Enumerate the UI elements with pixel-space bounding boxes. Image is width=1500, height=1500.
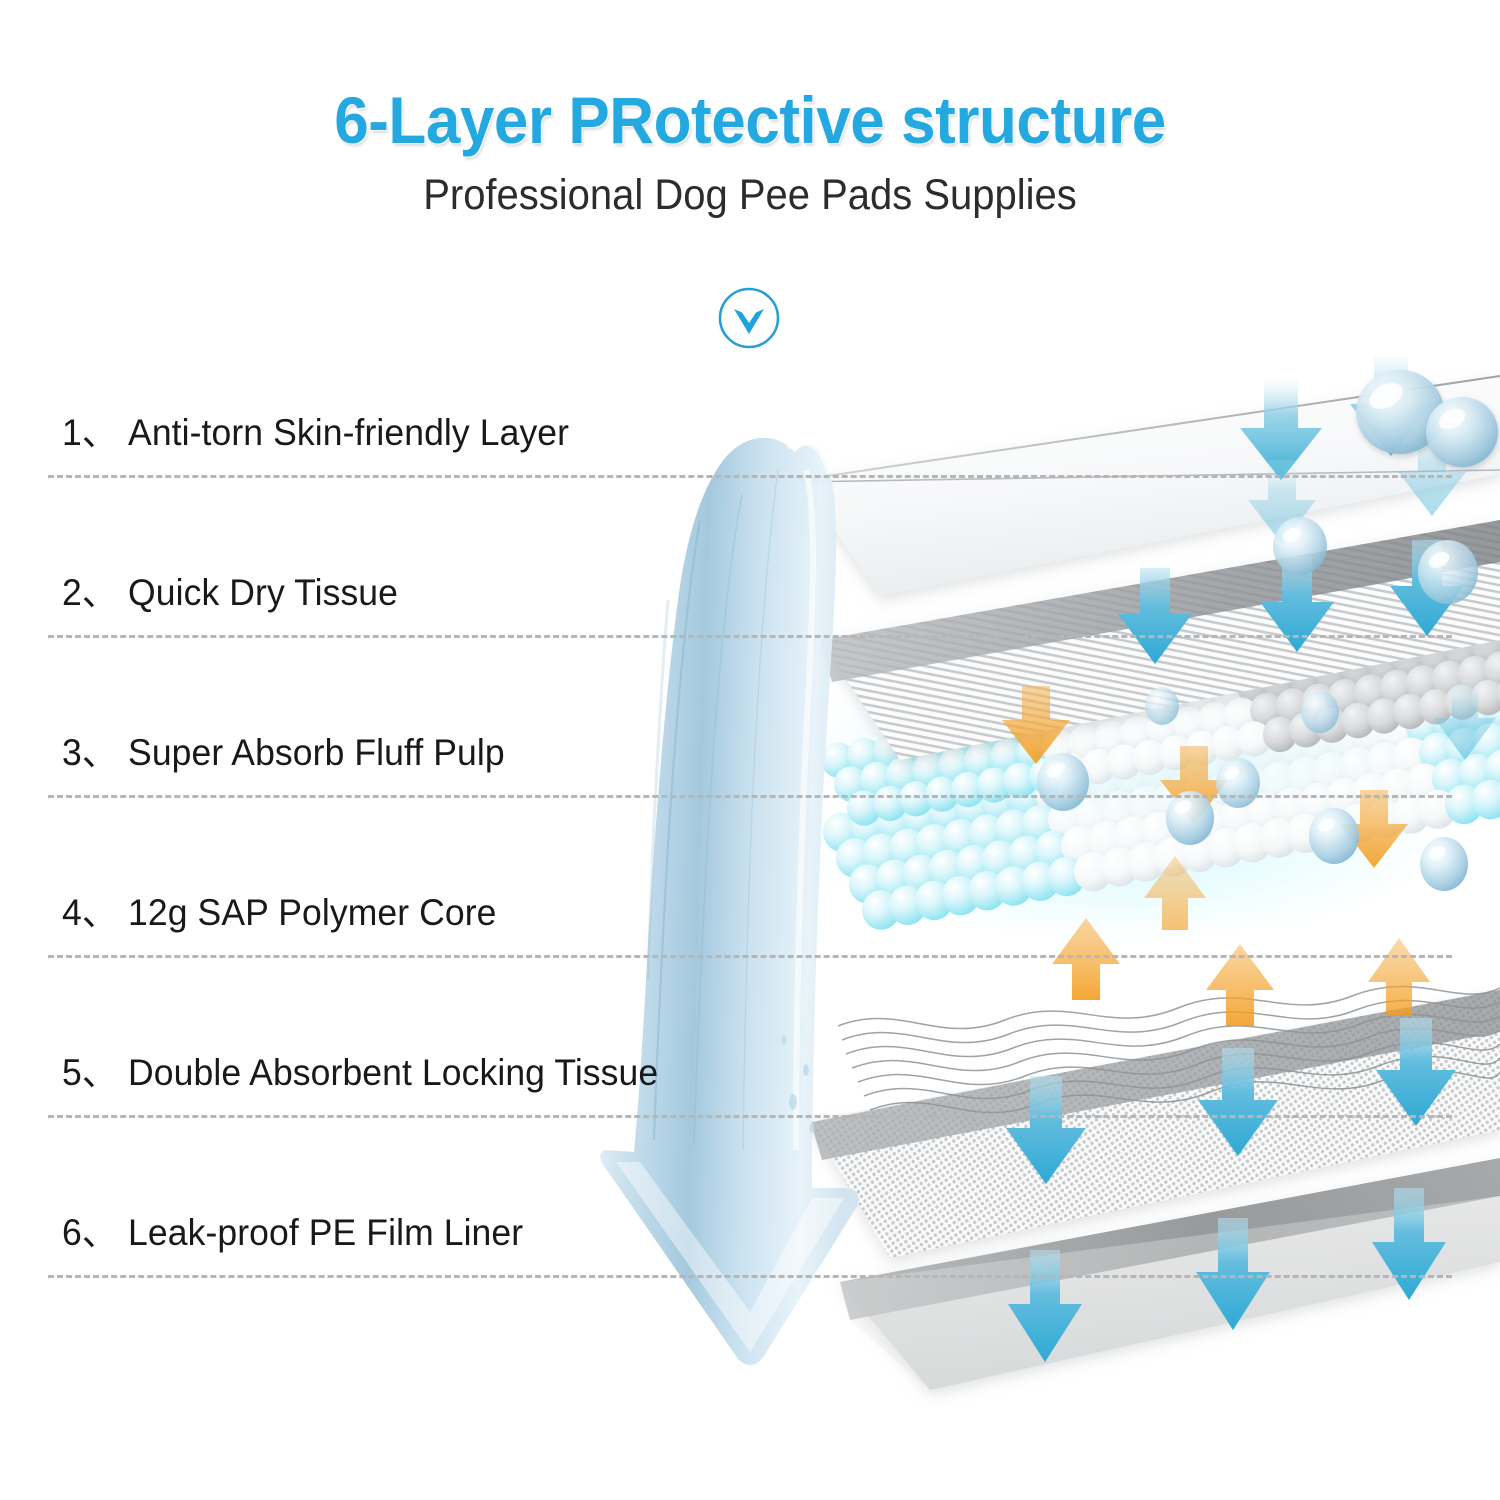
- layer-number: 6、: [62, 1202, 117, 1256]
- layer-label: 2、Quick Dry Tissue: [62, 562, 398, 616]
- layer-label: 1、Anti-torn Skin-friendly Layer: [62, 402, 569, 456]
- infographic-page: 6-Layer PRotective structure Professiona…: [0, 0, 1500, 1500]
- layer-name-text: Leak-proof PE Film Liner: [128, 1212, 523, 1253]
- layer-label: 3、Super Absorb Fluff Pulp: [62, 722, 505, 776]
- layer-row: 1、Anti-torn Skin-friendly Layer: [0, 318, 1500, 478]
- layer-label: 4、12g SAP Polymer Core: [62, 882, 497, 936]
- layer-name-text: 12g SAP Polymer Core: [128, 892, 496, 933]
- layer-number: 5、: [62, 1042, 117, 1096]
- layer-number: 2、: [62, 562, 117, 616]
- layer-divider: [48, 1275, 1452, 1278]
- layer-number: 3、: [62, 722, 117, 776]
- layer-label-list: 1、Anti-torn Skin-friendly Layer2、Quick D…: [0, 0, 1500, 1500]
- layer-label: 6、Leak-proof PE Film Liner: [62, 1202, 523, 1256]
- layer-name-text: Anti-torn Skin-friendly Layer: [128, 412, 569, 453]
- layer-label: 5、Double Absorbent Locking Tissue: [62, 1042, 658, 1096]
- layer-row: 6、Leak-proof PE Film Liner: [0, 1118, 1500, 1278]
- layer-name-text: Super Absorb Fluff Pulp: [128, 732, 505, 773]
- layer-number: 1、: [62, 402, 117, 456]
- layer-row: 3、Super Absorb Fluff Pulp: [0, 638, 1500, 798]
- layer-name-text: Quick Dry Tissue: [128, 572, 398, 613]
- layer-row: 5、Double Absorbent Locking Tissue: [0, 958, 1500, 1118]
- header: 6-Layer PRotective structure Professiona…: [0, 0, 1500, 220]
- page-title: 6-Layer PRotective structure: [45, 86, 1455, 155]
- page-subtitle: Professional Dog Pee Pads Supplies: [53, 171, 1448, 220]
- layer-name-text: Double Absorbent Locking Tissue: [128, 1052, 658, 1093]
- layer-row: 2、Quick Dry Tissue: [0, 478, 1500, 638]
- layer-row: 4、12g SAP Polymer Core: [0, 798, 1500, 958]
- layer-number: 4、: [62, 882, 117, 936]
